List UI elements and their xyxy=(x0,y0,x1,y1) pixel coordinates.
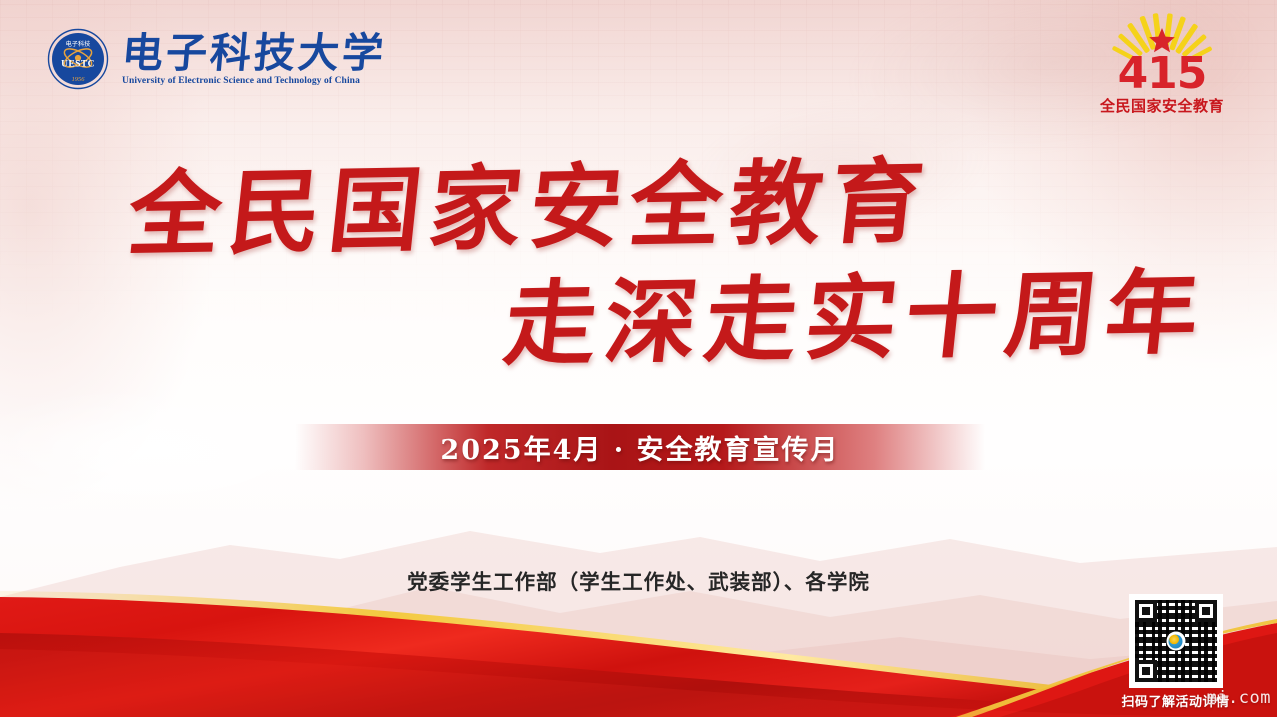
qr-finder-top-left xyxy=(1135,600,1157,622)
wechat-account-avatar-icon xyxy=(1166,632,1185,651)
university-name-en: University of Electronic Science and Tec… xyxy=(122,76,386,86)
title-line-2: 走深走实十周年 xyxy=(0,265,1277,379)
svg-text:全民国家安全教育: 全民国家安全教育 xyxy=(1099,97,1224,115)
main-title: 全民国家安全教育 走深走实十周年 xyxy=(0,160,1277,368)
university-logo: UESTC 电子科技 1956 电子科技大学 University of Ele… xyxy=(47,28,386,90)
qr-code-icon[interactable] xyxy=(1129,594,1223,688)
university-name-cn: 电子科技大学 xyxy=(120,32,388,75)
svg-text:电子科技: 电子科技 xyxy=(66,40,91,48)
site-watermark: mi.com xyxy=(1207,688,1271,708)
uestc-crest-icon: UESTC 电子科技 1956 xyxy=(47,28,109,90)
red-wave-ribbon-icon xyxy=(0,587,1277,717)
qr-finder-top-right xyxy=(1195,600,1217,622)
svg-text:UESTC: UESTC xyxy=(61,60,95,70)
qr-finder-bottom-left xyxy=(1135,660,1157,682)
date-banner-text: 2025年4月 · 安全教育宣传月 xyxy=(440,428,839,467)
title-line-1: 全民国家安全教育 xyxy=(0,149,1277,263)
date-banner: 2025年4月 · 安全教育宣传月 xyxy=(295,424,985,470)
svg-text:1956: 1956 xyxy=(72,76,86,83)
svg-text:415: 415 xyxy=(1118,48,1207,99)
415-emblem: 415 全民国家安全教育 xyxy=(1085,12,1239,116)
poster-canvas: UESTC 电子科技 1956 电子科技大学 University of Ele… xyxy=(0,0,1277,717)
